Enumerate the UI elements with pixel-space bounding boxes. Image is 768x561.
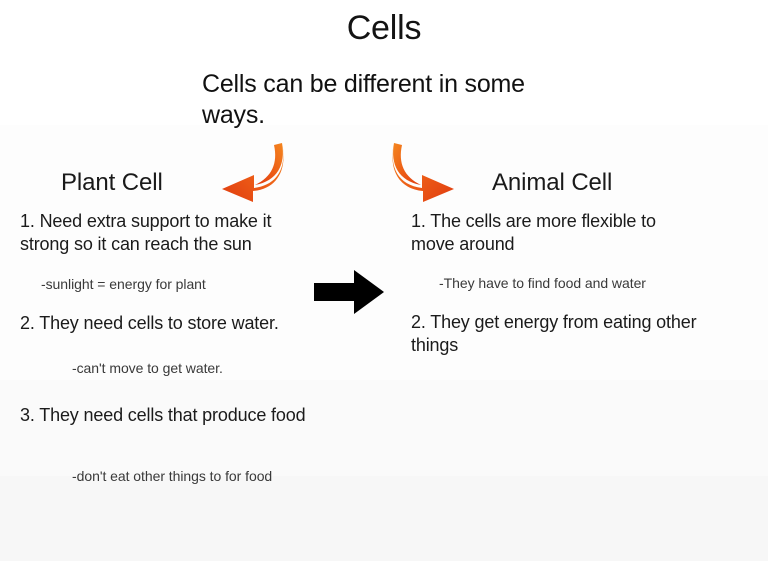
slide-canvas: Cells Cells can be different in some way… [0,0,768,561]
page-title: Cells [0,8,768,48]
block-arrow-right-icon [314,270,384,314]
list-item: 2. They get energy from eating other thi… [411,311,701,357]
slide-subtitle: Cells can be different in some ways. [202,69,532,131]
list-item: -can't move to get water. [72,359,310,377]
list-item: -They have to find food and water [439,274,701,292]
column-plant-cell: 1. Need extra support to make it strong … [20,210,310,485]
list-item: -don't eat other things to for food [72,467,310,485]
column-heading-plant-cell: Plant Cell [61,168,163,198]
column-animal-cell: 1. The cells are more flexible to move a… [411,210,701,357]
curved-arrow-left-icon [208,141,288,203]
curved-arrow-right-icon [388,141,468,203]
list-item: -sunlight = energy for plant [41,275,310,293]
list-item: 1. Need extra support to make it strong … [20,210,310,256]
list-item: 1. The cells are more flexible to move a… [411,210,701,256]
list-item: 2. They need cells to store water. [20,312,310,335]
column-heading-animal-cell: Animal Cell [492,168,612,198]
list-item: 3. They need cells that produce food [20,404,310,427]
background-band-lower [0,476,768,561]
